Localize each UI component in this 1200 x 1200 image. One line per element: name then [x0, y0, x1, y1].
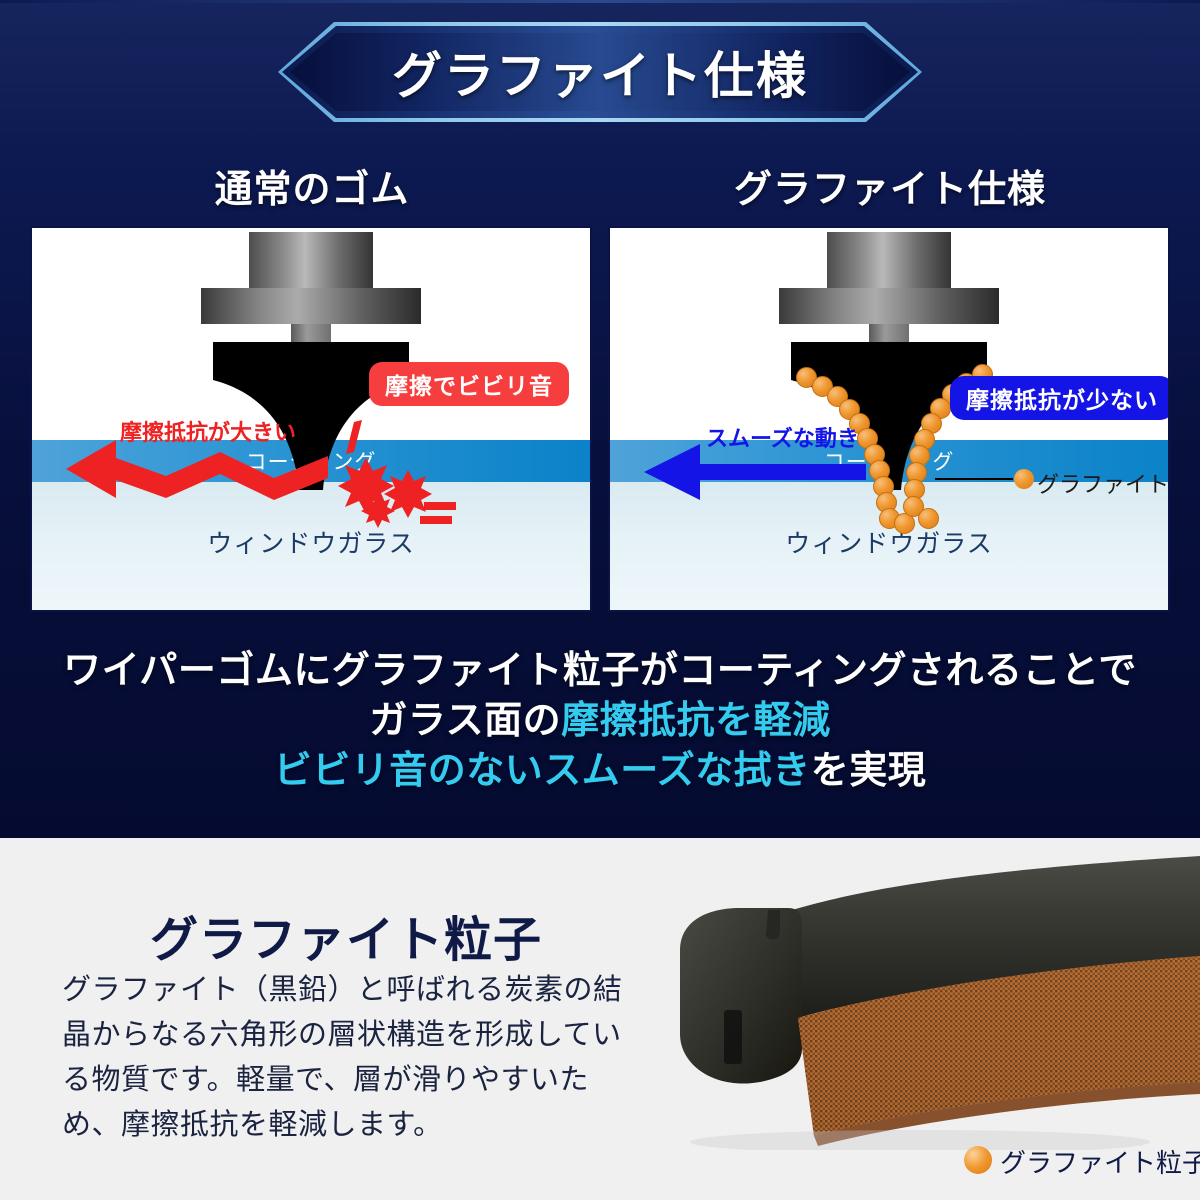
particle-callout-label: グラファイト粒子 — [1037, 467, 1170, 499]
top-hairline — [0, 0, 1200, 3]
description-block: ワイパーゴムにグラファイト粒子がコーティングされることで ガラス面の摩擦抵抗を軽… — [0, 646, 1200, 796]
diagram-panel-graphite: ウィンドウガラス コーティング — [608, 226, 1170, 612]
friction-zigzag-arrow-icon — [60, 438, 328, 504]
legend-particle-dot-icon — [964, 1146, 992, 1174]
top-section: グラファイト仕様 通常のゴム グラファイト仕様 ウィンドウガラス コーティング … — [0, 0, 1200, 838]
wiper-metal-flange — [779, 288, 999, 324]
smooth-motion-arrow-icon — [638, 442, 866, 502]
wiper-metal-flange — [201, 288, 421, 324]
description-line-3-highlight: ビビリ音のないスムーズな拭き — [274, 750, 811, 792]
wiper-metal-cylinder — [249, 232, 373, 292]
low-friction-badge: 摩擦抵抗が少ない — [950, 376, 1170, 420]
particle-callout-line — [935, 478, 1013, 480]
particle-callout-dot-icon — [1014, 469, 1034, 489]
wiper-blade-top — [791, 342, 987, 376]
panel-heading-graphite: グラファイト仕様 — [610, 158, 1170, 213]
description-line-3: ビビリ音のないスムーズな拭きを実現 — [0, 746, 1200, 796]
description-line-1: ワイパーゴムにグラファイト粒子がコーティングされることで — [0, 646, 1200, 696]
description-line-2-plain: ガラス面の — [369, 700, 561, 742]
bottom-section-title: グラファイト粒子 — [150, 900, 542, 970]
friction-noise-badge: 摩擦でビビリ音 — [369, 362, 569, 406]
wiper-blade-photo — [620, 850, 1200, 1150]
glass-label: ウィンドウガラス — [32, 524, 590, 560]
wiper-metal-cylinder — [827, 232, 951, 292]
bottom-section-body: グラファイト（黒鉛）と呼ばれる炭素の結晶からなる六角形の層状構造を形成している物… — [62, 968, 628, 1148]
description-line-2-highlight: 摩擦抵抗を軽減 — [561, 700, 831, 742]
title-banner: グラファイト仕様 — [278, 22, 922, 122]
glass-label: ウィンドウガラス — [610, 524, 1168, 560]
banner-title-text: グラファイト仕様 — [278, 22, 922, 122]
vibration-spark-icon — [332, 418, 462, 538]
description-line-3-plain: を実現 — [811, 750, 927, 792]
description-line-2: ガラス面の摩擦抵抗を軽減 — [0, 696, 1200, 746]
infographic-page: グラファイト仕様 通常のゴム グラファイト仕様 ウィンドウガラス コーティング … — [0, 0, 1200, 1200]
panel-heading-normal: 通常のゴム — [32, 158, 592, 213]
diagram-panel-normal-rubber: ウィンドウガラス コーティング 摩擦でビビリ音 摩擦抵抗が大きい — [30, 226, 592, 612]
legend-particle-label: グラファイト粒子 — [1000, 1143, 1200, 1180]
